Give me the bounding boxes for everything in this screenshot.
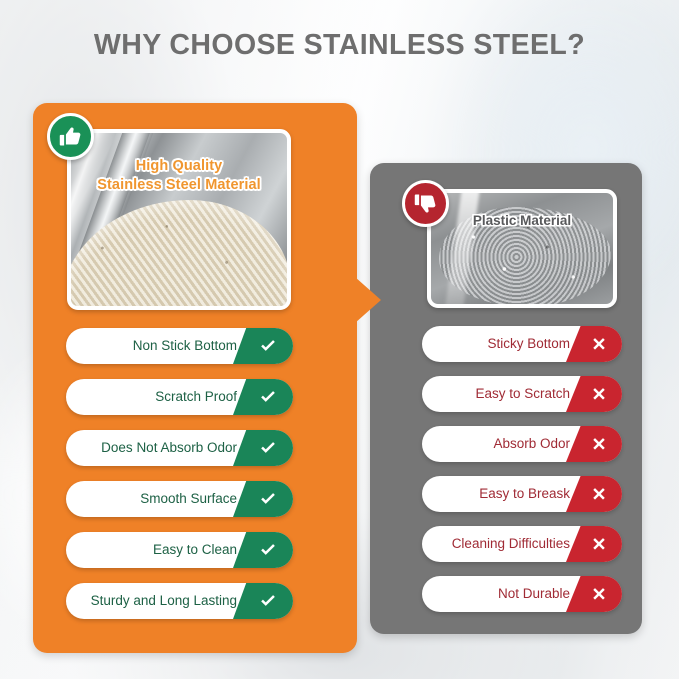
cross-icon	[566, 476, 622, 512]
feature-label: Easy to Scratch	[436, 376, 570, 412]
cross-icon	[566, 376, 622, 412]
feature-row: Absorb Odor	[422, 426, 622, 462]
cross-icon	[566, 326, 622, 362]
plastic-product-image: Plastic Material	[427, 189, 617, 308]
caption-line-2: Stainless Steel Material	[97, 177, 261, 193]
feature-label: Does Not Absorb Odor	[80, 430, 237, 466]
feature-row: Easy to Clean	[66, 532, 293, 568]
plastic-image-caption: Plastic Material	[431, 213, 613, 228]
stainless-image-caption: High Quality Stainless Steel Material	[71, 157, 287, 195]
feature-row: Smooth Surface	[66, 481, 293, 517]
stainless-steel-product-image: High Quality Stainless Steel Material	[67, 129, 291, 310]
check-icon	[233, 379, 293, 415]
cross-icon	[566, 576, 622, 612]
feature-label: Cleaning Difficulties	[436, 526, 570, 562]
feature-label: Sturdy and Long Lasting	[80, 583, 237, 619]
feature-label: Smooth Surface	[80, 481, 237, 517]
comparison-arrow-icon	[355, 277, 381, 323]
feature-label: Absorb Odor	[436, 426, 570, 462]
feature-label: Easy to Breask	[436, 476, 570, 512]
feature-label: Scratch Proof	[80, 379, 237, 415]
feature-row: Easy to Breask	[422, 476, 622, 512]
feature-label: Easy to Clean	[80, 532, 237, 568]
check-icon	[233, 430, 293, 466]
cross-icon	[566, 526, 622, 562]
thumbs-up-icon	[47, 113, 94, 160]
page-title: WHY CHOOSE STAINLESS STEEL?	[0, 29, 679, 62]
feature-row: Sturdy and Long Lasting	[66, 583, 293, 619]
feature-label: Sticky Bottom	[436, 326, 570, 362]
caption-line-1: High Quality	[136, 158, 223, 174]
feature-row: Non Stick Bottom	[66, 328, 293, 364]
feature-row: Sticky Bottom	[422, 326, 622, 362]
check-icon	[233, 532, 293, 568]
feature-row: Cleaning Difficulties	[422, 526, 622, 562]
check-icon	[233, 583, 293, 619]
check-icon	[233, 481, 293, 517]
feature-row: Scratch Proof	[66, 379, 293, 415]
check-icon	[233, 328, 293, 364]
thumbs-down-icon	[402, 180, 449, 227]
feature-row: Does Not Absorb Odor	[66, 430, 293, 466]
cross-icon	[566, 426, 622, 462]
feature-label: Non Stick Bottom	[80, 328, 237, 364]
feature-row: Easy to Scratch	[422, 376, 622, 412]
feature-row: Not Durable	[422, 576, 622, 612]
feature-label: Not Durable	[436, 576, 570, 612]
